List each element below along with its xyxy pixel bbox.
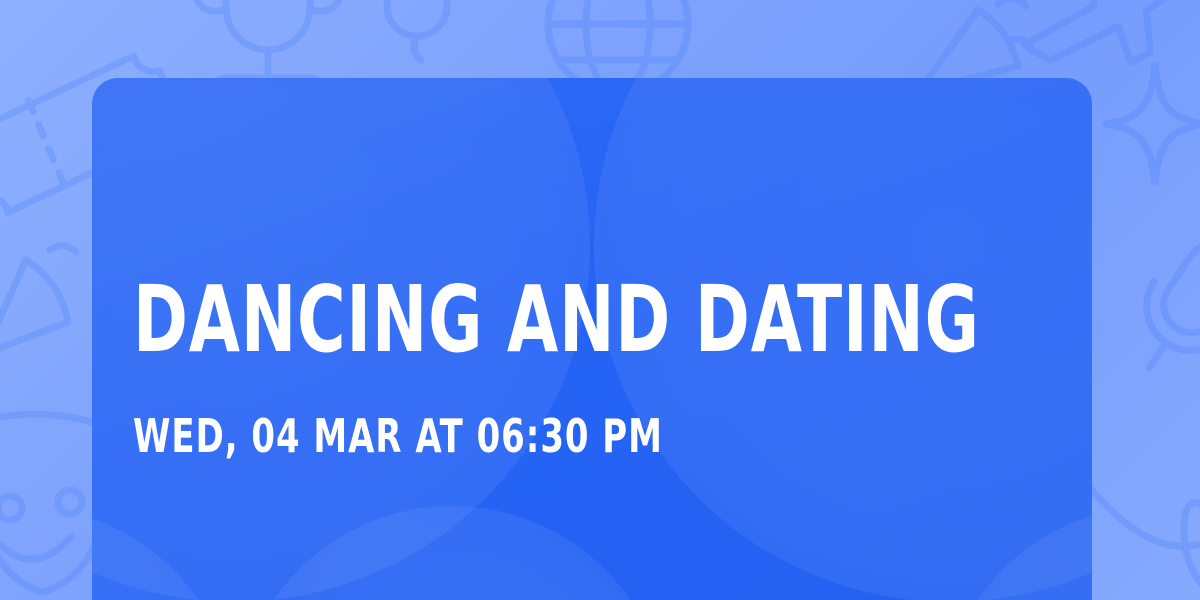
balloon-icon: [372, 0, 462, 74]
confetti-icon: [0, 236, 94, 366]
card-text-block: Dancing and Dating Wed, 04 Mar at 06:30 …: [133, 78, 1033, 600]
ribbon-icon: [1084, 452, 1200, 600]
event-title: Dancing and Dating: [133, 274, 980, 366]
event-datetime: Wed, 04 Mar at 06:30 PM: [133, 413, 663, 459]
event-card[interactable]: Dancing and Dating Wed, 04 Mar at 06:30 …: [92, 78, 1092, 600]
sparkle-icon: [1100, 58, 1200, 188]
microphone-icon: [1120, 228, 1200, 408]
